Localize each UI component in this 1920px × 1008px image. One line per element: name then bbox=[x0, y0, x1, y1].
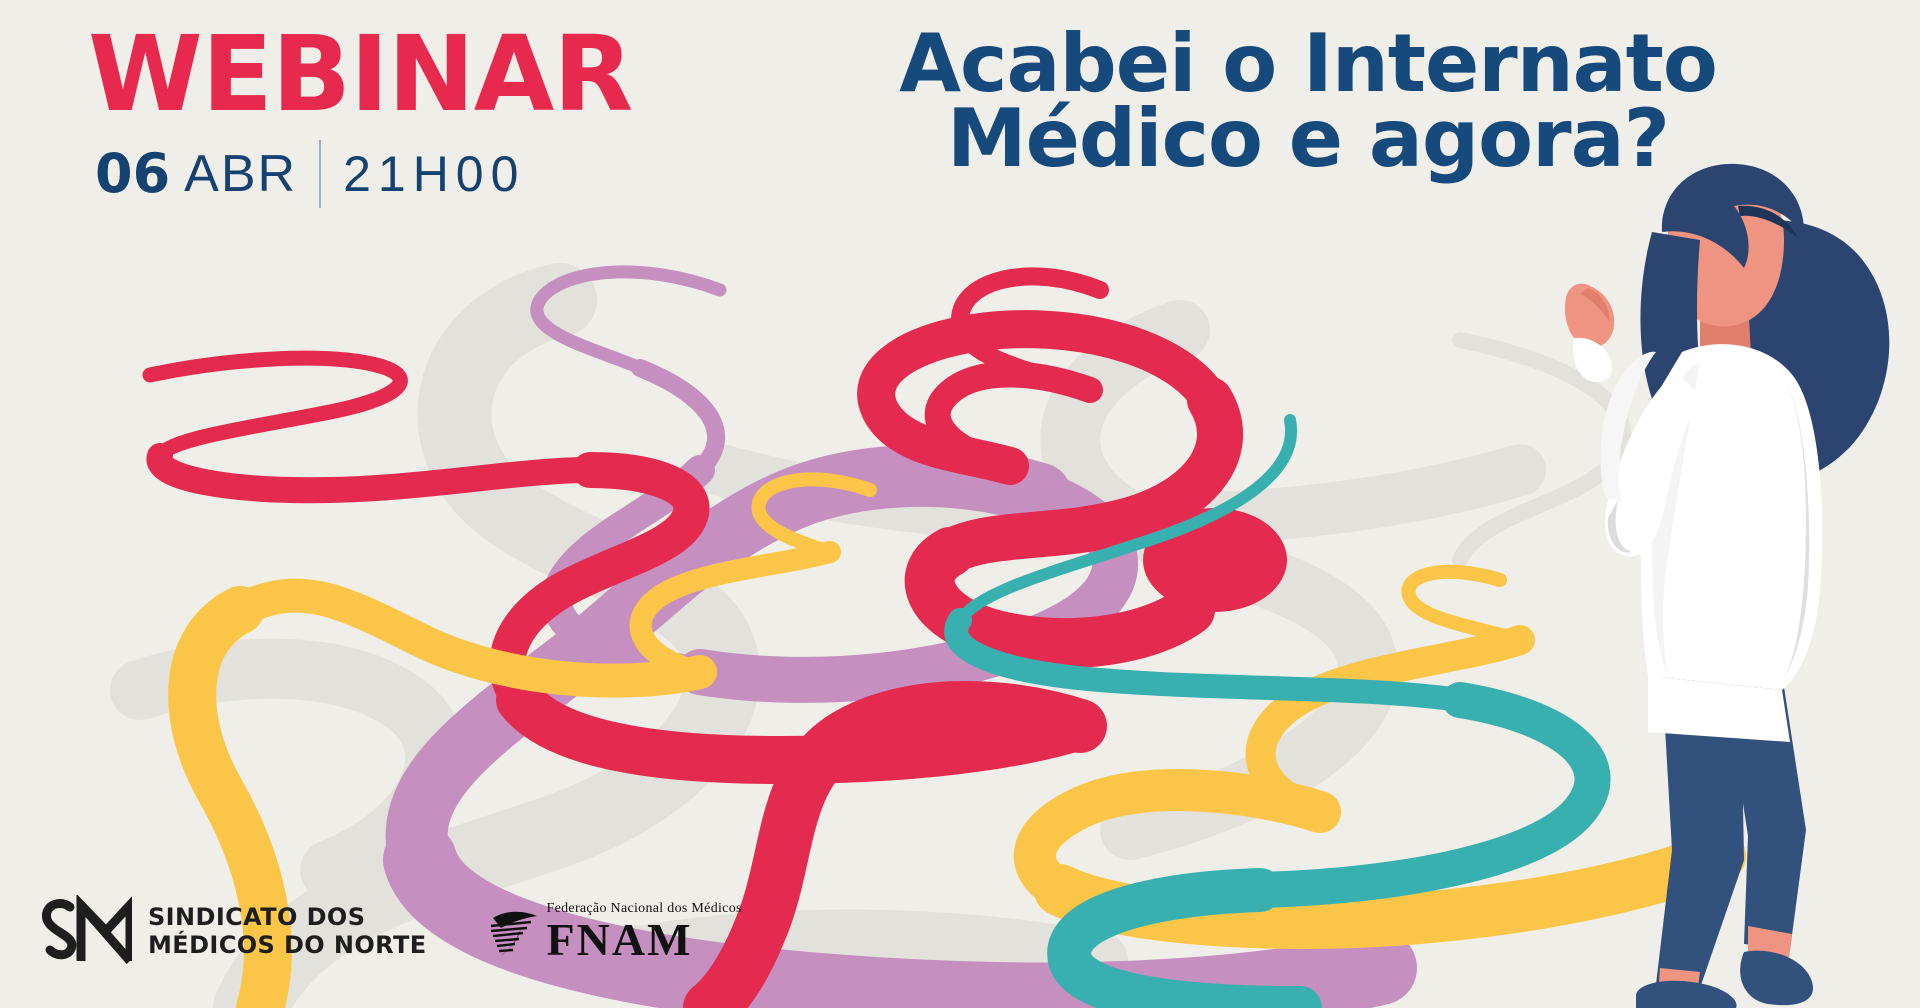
fnam-logo-text: Federação Nacional dos Médicos FNAM bbox=[547, 902, 742, 963]
schedule-divider bbox=[319, 140, 321, 208]
headline-line-2: Médico e agora? bbox=[718, 101, 1898, 176]
fnam-logo: Federação Nacional dos Médicos FNAM bbox=[487, 902, 742, 963]
smn-monogram-icon bbox=[40, 895, 132, 969]
banner-canvas: WEBINAR 06 ABR 21H00 Acabei o Internato … bbox=[0, 0, 1920, 1008]
smn-logo-text: SINDICATO DOS MÉDICOS DO NORTE bbox=[148, 904, 427, 960]
page-title: Acabei o Internato Médico e agora? bbox=[718, 26, 1898, 176]
smn-logo: SINDICATO DOS MÉDICOS DO NORTE bbox=[40, 895, 427, 969]
smn-text-line-2: MÉDICOS DO NORTE bbox=[148, 932, 427, 960]
schedule-time: 21H00 bbox=[343, 149, 525, 199]
schedule-month: ABR bbox=[184, 148, 297, 200]
logo-row: SINDICATO DOS MÉDICOS DO NORTE Federação… bbox=[40, 895, 742, 969]
fnam-bird-icon bbox=[487, 904, 541, 960]
schedule-day: 06 bbox=[95, 147, 170, 201]
smn-text-line-1: SINDICATO DOS bbox=[148, 904, 427, 932]
fnam-acronym: FNAM bbox=[547, 917, 742, 963]
schedule-line: 06 ABR 21H00 bbox=[95, 140, 525, 208]
headline-line-1: Acabei o Internato bbox=[718, 26, 1898, 101]
webinar-badge: WEBINAR bbox=[88, 22, 632, 126]
